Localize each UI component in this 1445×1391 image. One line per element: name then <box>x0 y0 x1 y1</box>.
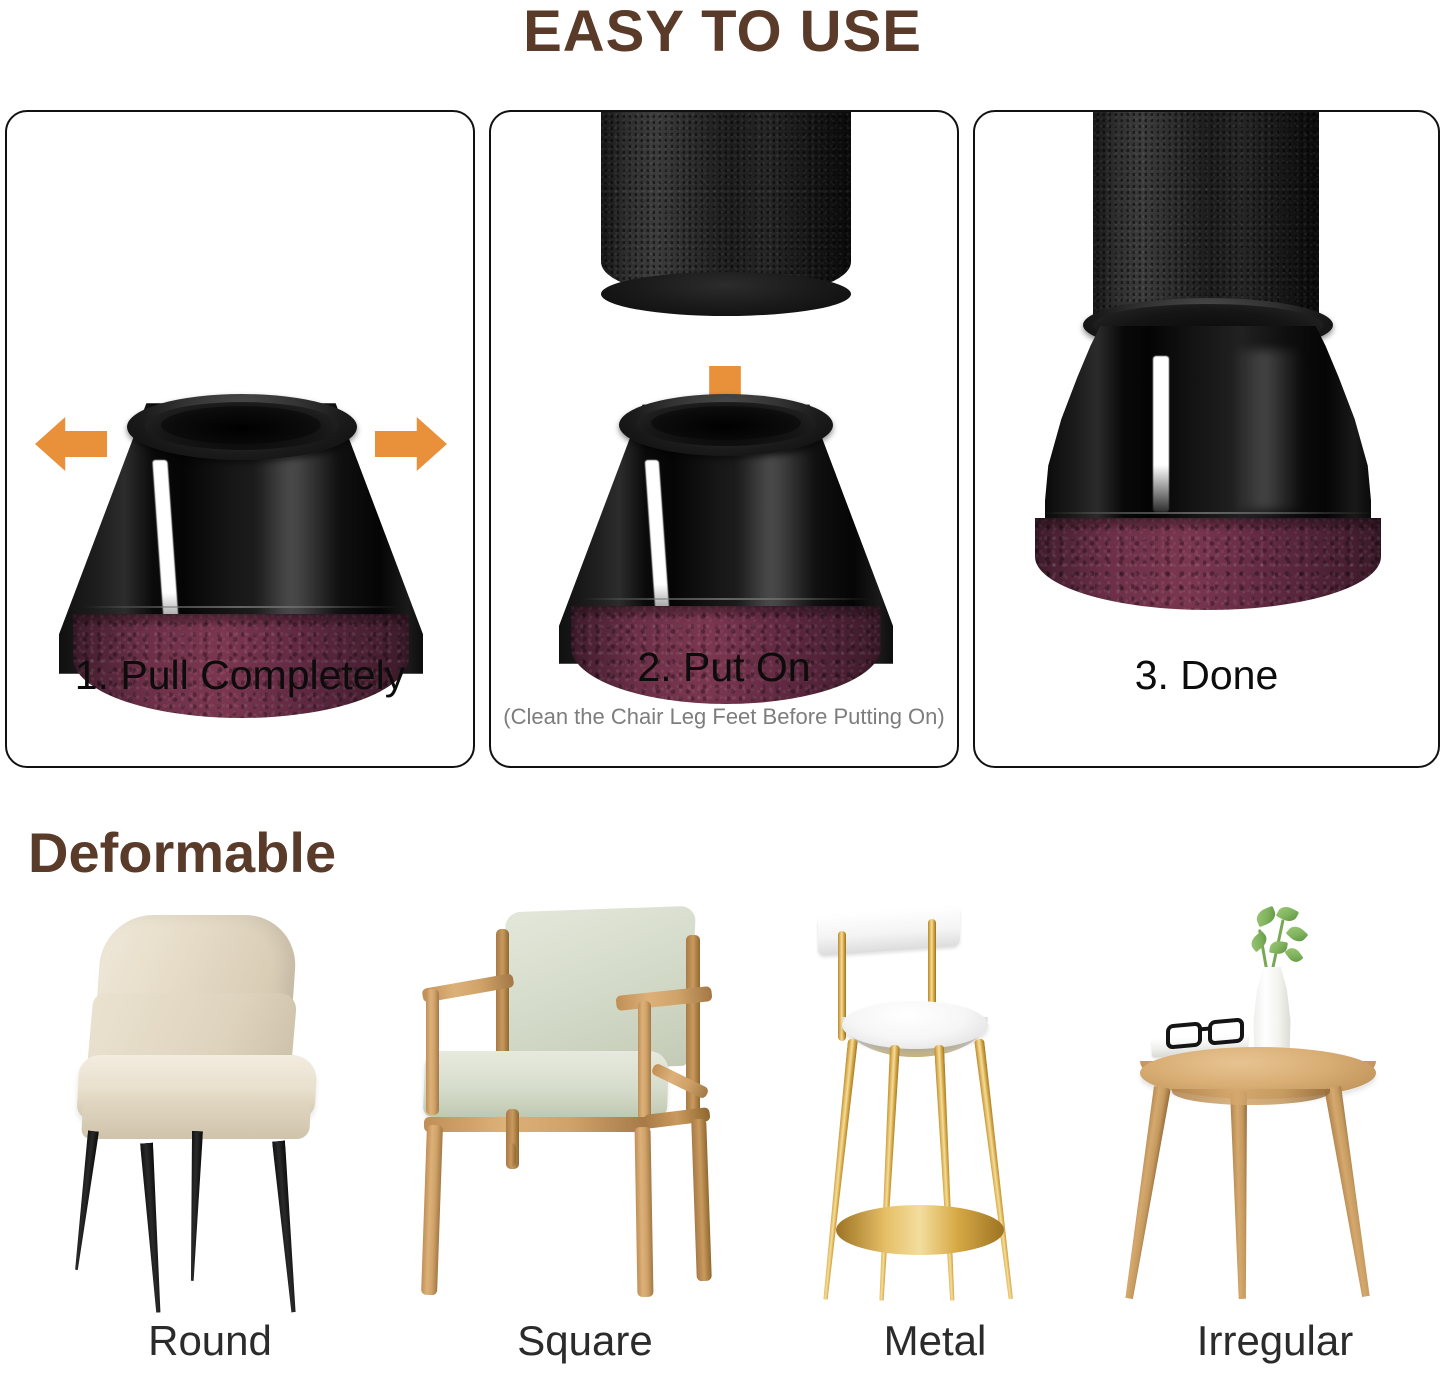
plant-leaf-2 <box>1276 903 1299 924</box>
cap-opening <box>651 406 801 440</box>
stool-leg-4 <box>974 1038 1016 1299</box>
step-panel-2: 2. Put On (Clean the Chair Leg Feet Befo… <box>489 110 959 768</box>
vase <box>1250 967 1294 1055</box>
dining-chair-illustration <box>40 905 380 1315</box>
armchair-arm-support-right <box>638 1001 651 1123</box>
armchair-leg-front-left <box>421 1125 443 1295</box>
step-panel-1: 1. Pull Completely <box>5 110 475 768</box>
table-leg-brace <box>1172 1089 1330 1105</box>
step-1-illustration <box>7 112 473 632</box>
cap-seam <box>83 606 399 608</box>
stool-seat <box>842 1001 988 1049</box>
chair-leg-bottom <box>601 272 851 316</box>
cap-gloss-soft <box>1233 350 1303 510</box>
plant-leaf-1 <box>1254 906 1278 927</box>
chair-leg <box>601 110 851 296</box>
step-2-subcaption: (Clean the Chair Leg Feet Before Putting… <box>491 704 957 730</box>
step-panel-3: 3. Done <box>973 110 1440 768</box>
cap-highlight <box>1153 356 1169 512</box>
side-table-illustration <box>1110 905 1440 1315</box>
step-1-caption: 1. Pull Completely <box>7 652 473 699</box>
plant-leaf-4 <box>1248 931 1270 953</box>
stool-leg-1 <box>821 1038 858 1300</box>
furniture-label-metal: Metal <box>800 1317 1070 1365</box>
stool-footring <box>836 1205 1004 1255</box>
step-2-caption: 2. Put On <box>491 644 957 691</box>
step-3-caption: 3. Done <box>975 652 1438 699</box>
armchair-leg-back-right <box>691 1119 712 1281</box>
page-title: EASY TO USE <box>0 2 1445 63</box>
deformable-heading: Deformable <box>28 820 336 885</box>
armchair-illustration <box>410 905 760 1315</box>
plant-leaf-6 <box>1284 945 1303 965</box>
chair-leg-back-right <box>187 1131 203 1281</box>
steps-row: 1. Pull Completely 2. Put On (Clean the … <box>5 110 1440 768</box>
armchair-stretcher <box>506 1143 516 1167</box>
eyeglasses-lens-right <box>1208 1017 1244 1045</box>
furniture-label-irregular: Irregular <box>1110 1317 1440 1365</box>
armchair-front-rail <box>424 1117 650 1132</box>
furniture-label-square: Square <box>410 1317 760 1365</box>
armchair-seat-cushion <box>423 1051 669 1117</box>
table-leg-left <box>1119 1086 1171 1300</box>
plant-leaf-3 <box>1286 923 1309 945</box>
armchair-back-cushion <box>498 906 696 1073</box>
stool-leg-3 <box>934 1045 957 1301</box>
furniture-row: Round <box>0 905 1445 1391</box>
chair-leg-back-left <box>71 1130 99 1270</box>
furniture-label-round: Round <box>40 1317 380 1365</box>
cap-opening <box>161 406 321 444</box>
chair-leg-cap-installed <box>1027 298 1389 612</box>
table-leg-right <box>1324 1086 1376 1298</box>
armchair-arm-support-left <box>426 989 439 1115</box>
step-2-illustration <box>491 112 957 632</box>
chair-leg-front-right <box>272 1140 300 1312</box>
furniture-item-metal: Metal <box>800 905 1070 1391</box>
felt-pad <box>1035 518 1381 610</box>
chair-leg-front-left <box>140 1143 165 1313</box>
armchair-leg-front-right <box>635 1127 654 1297</box>
table-leg-center <box>1230 1091 1251 1299</box>
step-3-illustration <box>975 112 1438 632</box>
furniture-item-square: Square <box>410 905 760 1391</box>
cap-seam <box>581 598 871 600</box>
stool-leg-2 <box>877 1045 900 1301</box>
furniture-item-round: Round <box>40 905 380 1391</box>
cap-stretched-body <box>1045 326 1371 520</box>
cap-seam <box>1043 512 1373 514</box>
bar-stool-illustration <box>800 905 1070 1315</box>
furniture-item-irregular: Irregular <box>1110 905 1440 1391</box>
chair-leg <box>1093 110 1319 318</box>
eyeglasses-lens-left <box>1166 1021 1202 1049</box>
